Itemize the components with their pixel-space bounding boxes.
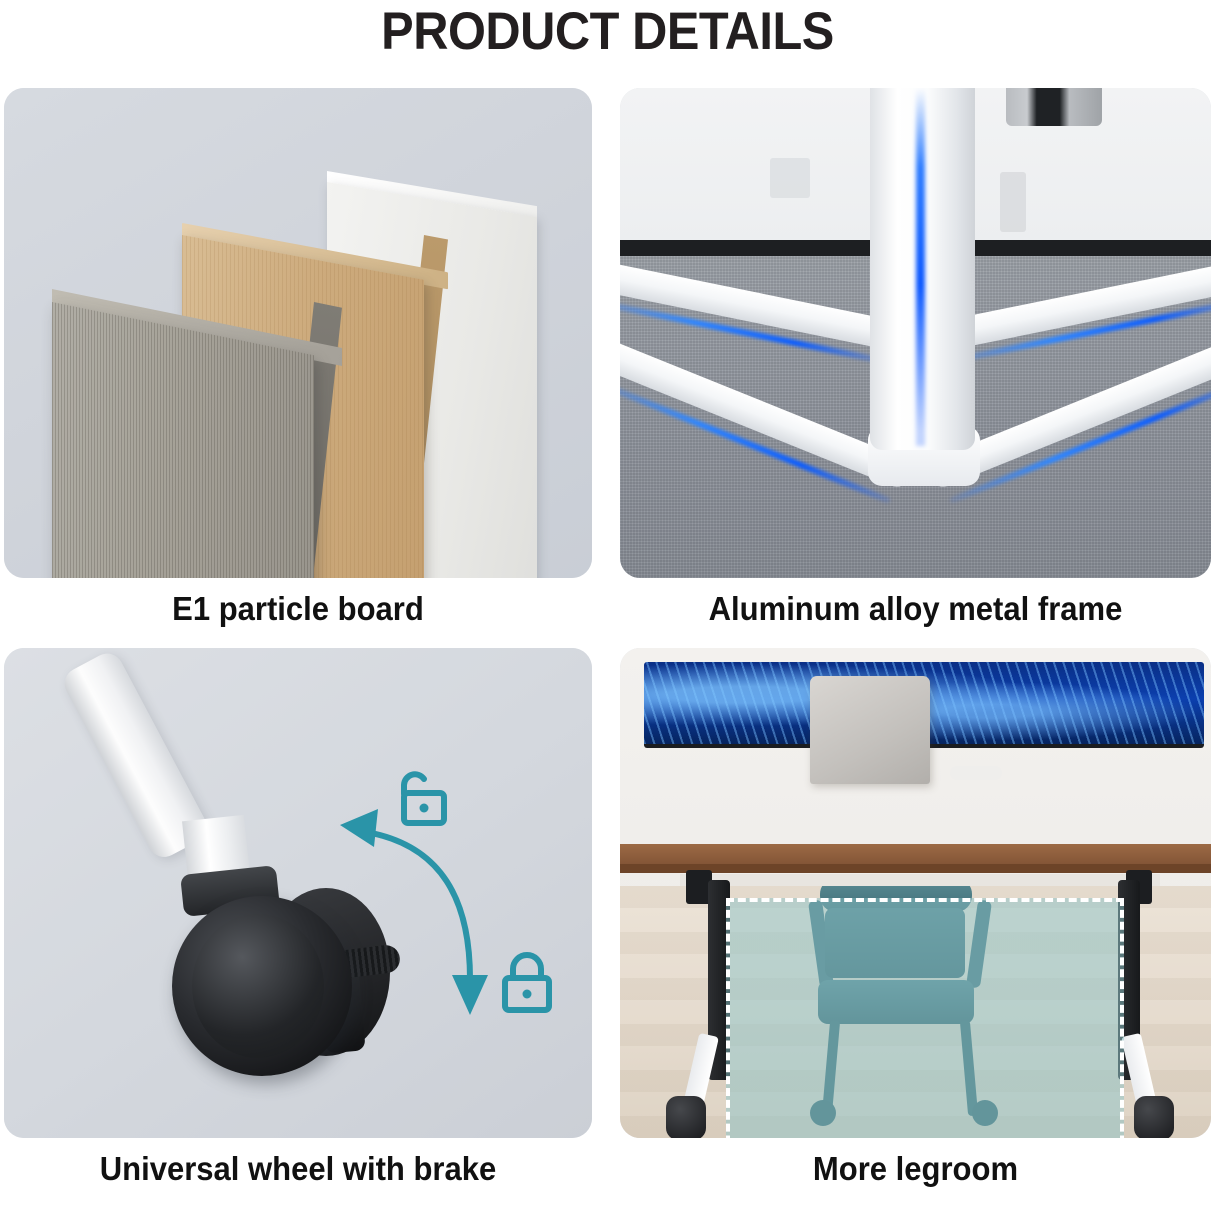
caption-aluminum-frame: Aluminum alloy metal frame [638, 589, 1194, 629]
caption-particle-board: E1 particle board [22, 589, 575, 629]
caption-more-legroom: More legroom [638, 1149, 1194, 1189]
caption-universal-wheel: Universal wheel with brake [22, 1149, 575, 1189]
legroom-highlight-area [726, 898, 1124, 1138]
laptop [810, 676, 930, 784]
table-apron [680, 874, 1160, 886]
lock-icon [496, 950, 558, 1016]
caster-wheel [172, 896, 352, 1076]
panel-aluminum-frame [620, 88, 1211, 578]
table-caster-left [666, 1096, 706, 1138]
panel-universal-wheel [4, 648, 592, 1138]
desk-accessory [950, 766, 1002, 780]
rotation-arrow-icon [334, 803, 494, 1033]
desk-clamp [1006, 88, 1102, 126]
panel-more-legroom [620, 648, 1211, 1138]
wall-detail-right [1000, 172, 1026, 232]
product-details-page: PRODUCT DETAILS E1 particle board Alumin… [0, 0, 1215, 1205]
wall-detail-left [770, 158, 810, 198]
column-glow-line [916, 88, 925, 446]
caster-wheel-hub [192, 914, 324, 1058]
panel-particle-board [4, 88, 592, 578]
page-title: PRODUCT DETAILS [49, 2, 1167, 62]
table-caster-right [1134, 1096, 1174, 1138]
